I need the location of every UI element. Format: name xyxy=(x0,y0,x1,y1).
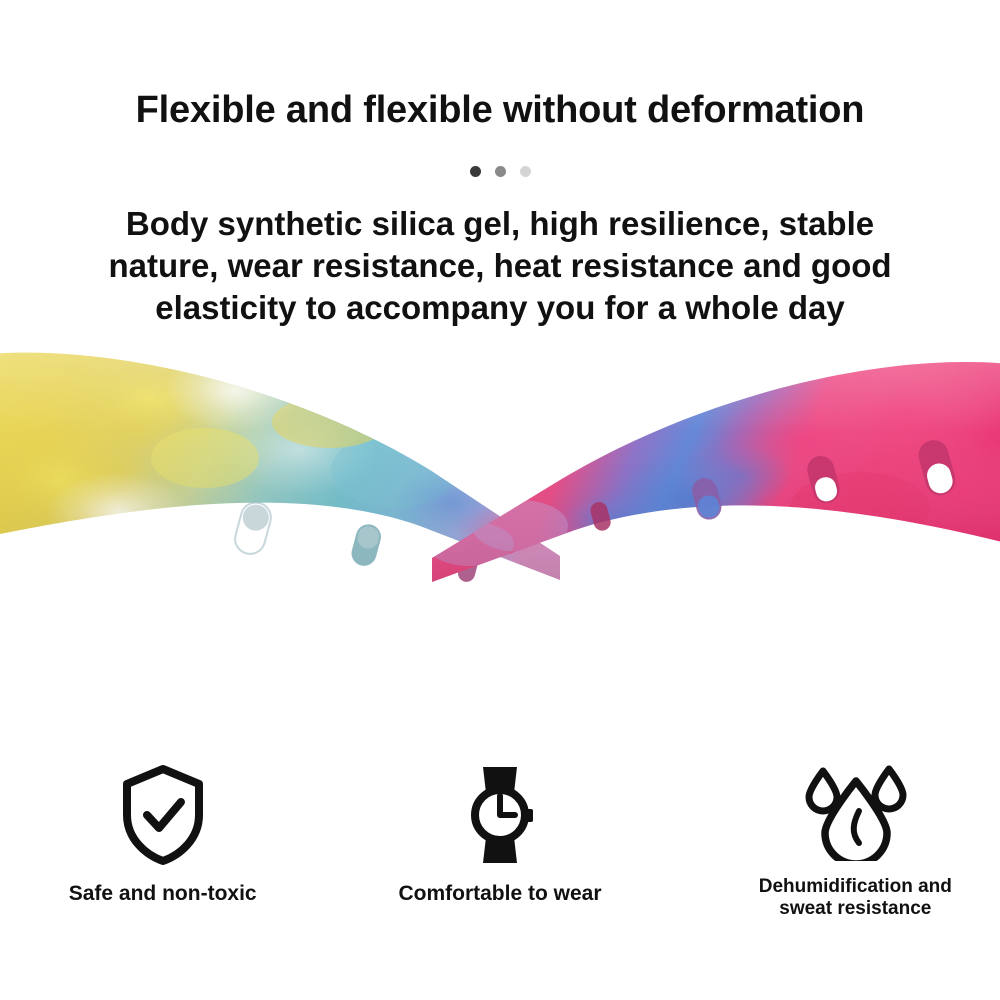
description-line-3: elasticity to accompany you for a whole … xyxy=(0,287,1000,329)
feature-caption-dehumidification: Dehumidification and sweat resistance xyxy=(759,876,952,921)
product-photo xyxy=(0,330,1000,710)
product-feature-page: Flexible and flexible without deformatio… xyxy=(0,0,1000,1000)
feature-item-safe: Safe and non-toxic xyxy=(0,760,329,950)
feature-caption-safe: Safe and non-toxic xyxy=(69,882,257,907)
description-line-1: Body synthetic silica gel, high resilien… xyxy=(0,203,1000,245)
feature-item-dehumidification: Dehumidification and sweat resistance xyxy=(689,760,1000,950)
three-dot-separator xyxy=(0,166,1000,177)
water-droplets-icon xyxy=(803,760,907,864)
shield-check-icon xyxy=(117,760,209,870)
separator-dot-2 xyxy=(495,166,506,177)
description-line-2: nature, wear resistance, heat resistance… xyxy=(0,245,1000,287)
description-paragraph: Body synthetic silica gel, high resilien… xyxy=(0,203,1000,330)
feature-caption-line-2: sweat resistance xyxy=(779,898,931,919)
feature-caption-comfort: Comfortable to wear xyxy=(398,882,601,907)
separator-dot-3 xyxy=(520,166,531,177)
wristwatch-icon xyxy=(457,760,543,870)
feature-caption-line-1: Dehumidification and xyxy=(759,876,952,897)
page-title: Flexible and flexible without deformatio… xyxy=(0,90,1000,132)
feature-list: Safe and non-toxic Comfortable to wear xyxy=(0,760,1000,950)
left-band xyxy=(0,330,600,630)
feature-item-comfort: Comfortable to wear xyxy=(333,760,666,950)
separator-dot-1 xyxy=(470,166,481,177)
twisted-bands-illustration xyxy=(0,330,1000,710)
